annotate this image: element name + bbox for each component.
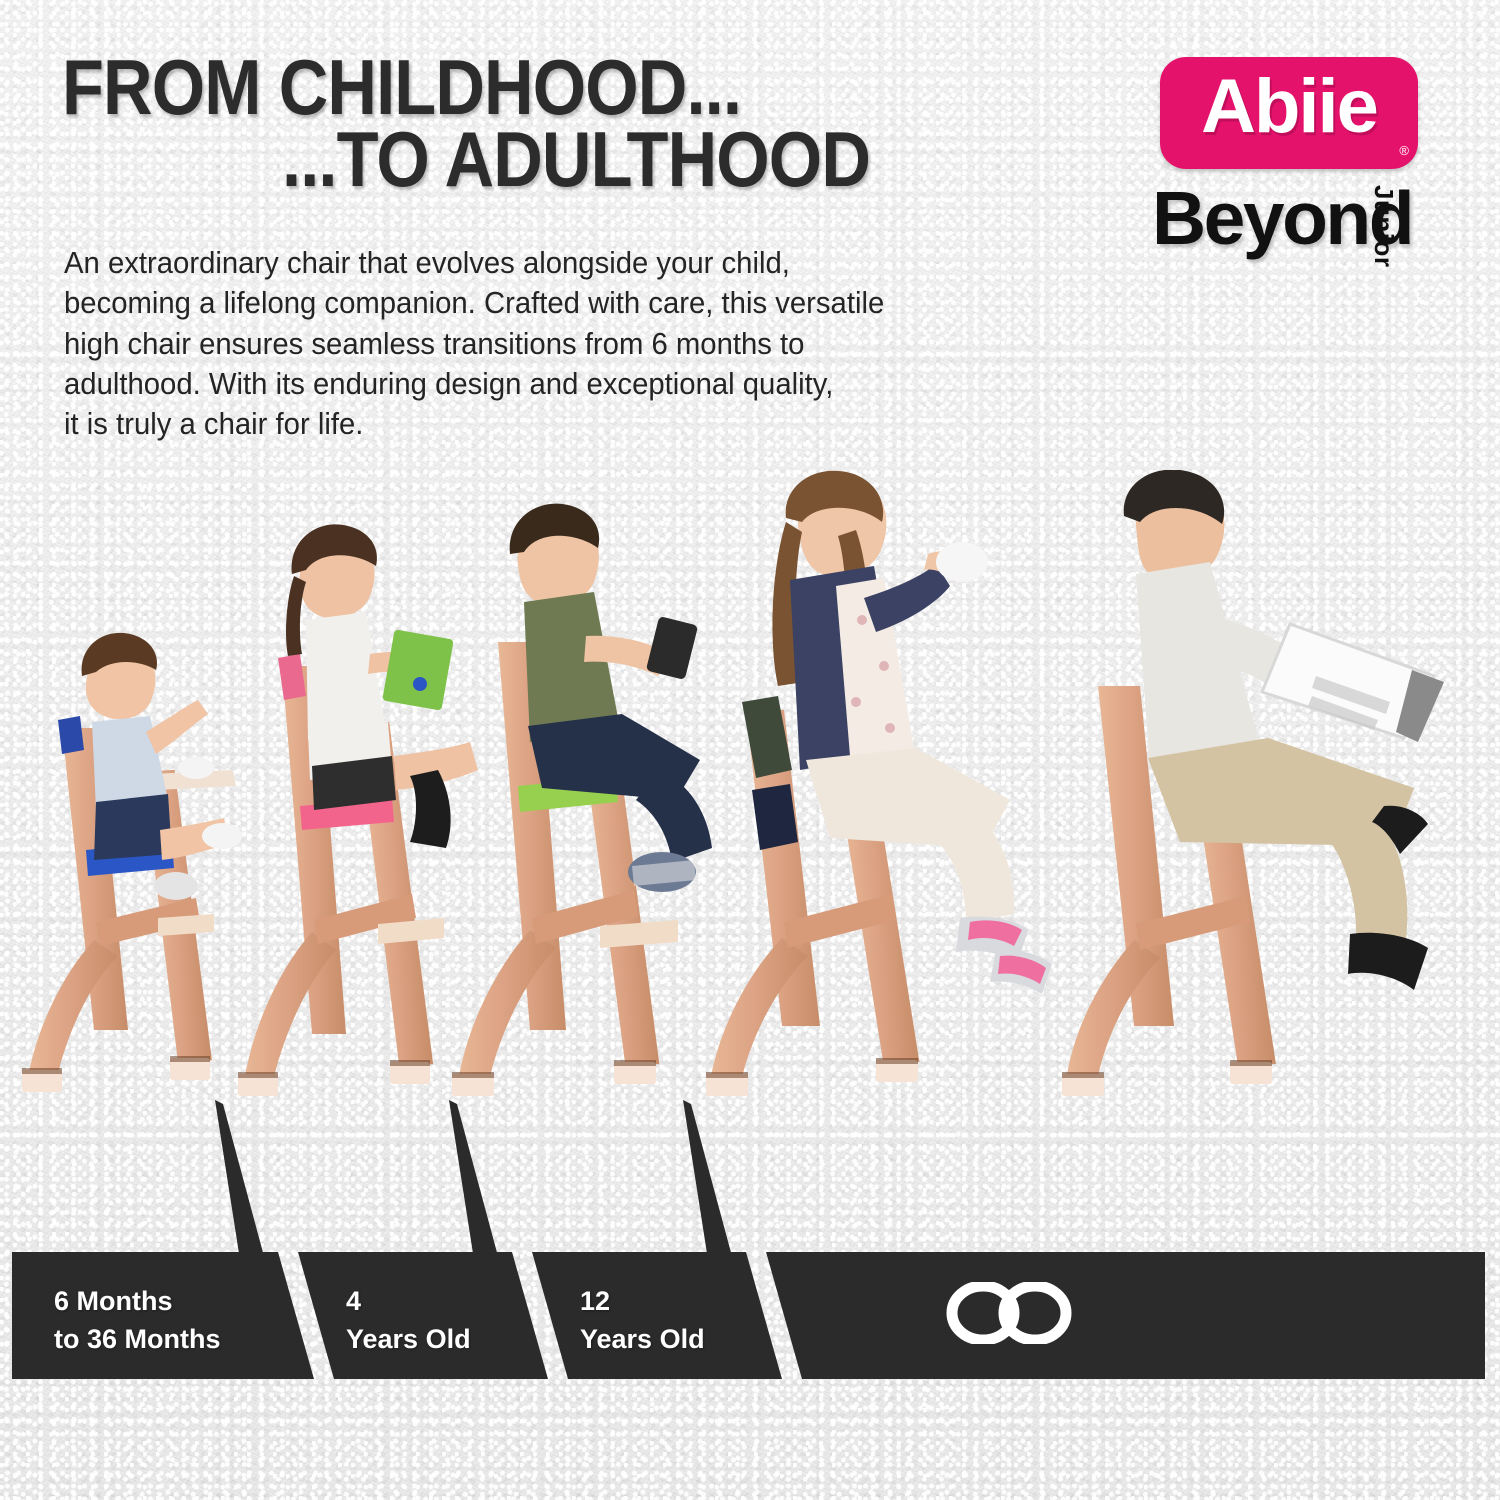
age-label-2-line-2: Years Old bbox=[346, 1320, 471, 1358]
junior-wordmark: Junior bbox=[1368, 185, 1399, 267]
age-label-2-line-1: 4 bbox=[346, 1282, 471, 1320]
age-label-1: 6 Months to 36 Months bbox=[54, 1282, 221, 1359]
chairs-illustration bbox=[0, 470, 1500, 1110]
headline-line-1: FROM CHILDHOOD... bbox=[62, 52, 942, 124]
chair-woman bbox=[706, 471, 1052, 1096]
brand-logo: Abiie ® Beyond Junior bbox=[1160, 57, 1425, 271]
abiie-logo-pill: Abiie ® bbox=[1160, 57, 1418, 169]
age-range-bar: 6 Months to 36 Months 4 Years Old 12 Yea… bbox=[12, 1252, 1485, 1379]
age-label-1-line-2: to 36 Months bbox=[54, 1320, 221, 1358]
abiie-wordmark: Abiie bbox=[1160, 63, 1418, 150]
chair-toddler bbox=[22, 633, 242, 1092]
age-label-3: 12 Years Old bbox=[580, 1282, 705, 1359]
age-label-3-line-1: 12 bbox=[580, 1282, 705, 1320]
intro-line-4: adulthood. With its enduring design and … bbox=[64, 364, 1034, 404]
connector-lines bbox=[0, 1090, 1500, 1265]
connector-2 bbox=[449, 1100, 499, 1260]
figure-girl bbox=[286, 524, 478, 848]
intro-line-5: it is truly a chair for life. bbox=[64, 404, 1034, 444]
connector-3 bbox=[683, 1100, 733, 1260]
age-label-1-line-1: 6 Months bbox=[54, 1282, 221, 1320]
headline-line-2: ...TO ADULTHOOD bbox=[62, 124, 942, 196]
age-label-3-line-2: Years Old bbox=[580, 1320, 705, 1358]
infinity-icon bbox=[944, 1282, 1074, 1344]
connector-1 bbox=[215, 1100, 265, 1260]
chair-boy bbox=[452, 504, 712, 1096]
age-segment-4-bg[interactable] bbox=[766, 1252, 1485, 1379]
infographic-canvas: FROM CHILDHOOD... ...TO ADULTHOOD An ext… bbox=[0, 0, 1500, 1500]
age-label-2: 4 Years Old bbox=[346, 1282, 471, 1359]
intro-line-2: becoming a lifelong companion. Crafted w… bbox=[64, 283, 1034, 323]
chair-girl bbox=[238, 524, 478, 1096]
age-bar-shapes bbox=[12, 1252, 1485, 1379]
page-title: FROM CHILDHOOD... ...TO ADULTHOOD bbox=[62, 52, 942, 196]
chair-man bbox=[1062, 470, 1444, 1096]
intro-line-1: An extraordinary chair that evolves alon… bbox=[64, 243, 1034, 283]
timeline-connectors bbox=[0, 1090, 1500, 1265]
figure-man bbox=[1124, 470, 1444, 990]
lifecycle-photo-band bbox=[0, 470, 1500, 1110]
registered-trademark-icon: ® bbox=[1399, 144, 1409, 157]
beyond-junior-lockup: Beyond Junior bbox=[1160, 179, 1425, 271]
intro-paragraph: An extraordinary chair that evolves alon… bbox=[64, 243, 1034, 444]
intro-line-3: high chair ensures seamless transitions … bbox=[64, 324, 1034, 364]
